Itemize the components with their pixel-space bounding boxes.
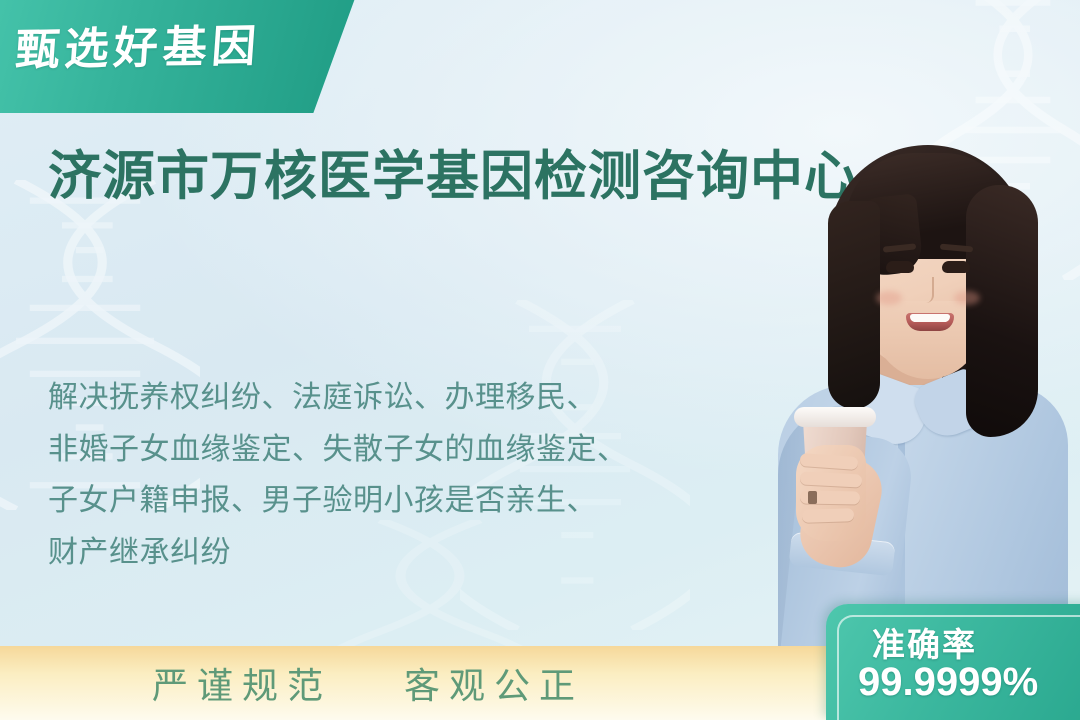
finger-ring	[808, 491, 817, 504]
banner-canvas: 甄选好基因 济源市万核医学基因检测咨询中心 解决抚养权纠纷、法庭诉讼、办理移民、…	[0, 0, 1080, 720]
hair-side-left	[828, 201, 880, 409]
service-line: 财产继承纠纷	[48, 527, 628, 579]
finger	[802, 508, 854, 523]
accuracy-label: 准确率	[872, 618, 977, 666]
hair-side-right	[966, 185, 1038, 437]
slogan-impartial: 客观公正	[404, 657, 584, 709]
service-description: 解决抚养权纠纷、法庭诉讼、办理移民、 非婚子女血缘鉴定、失散子女的血缘鉴定、 子…	[48, 372, 628, 578]
coffee-cup-lid	[794, 407, 876, 427]
service-line: 子女户籍申报、男子验明小孩是否亲生、	[48, 475, 628, 527]
service-line: 解决抚养权纠纷、法庭诉讼、办理移民、	[48, 372, 628, 424]
blush-right	[954, 291, 980, 305]
service-line: 非婚子女血缘鉴定、失散子女的血缘鉴定、	[48, 424, 628, 476]
nose	[922, 277, 934, 303]
eye-right	[942, 261, 970, 273]
accuracy-badge: 准确率 99.9999%	[826, 604, 1080, 720]
brand-ribbon: 甄选好基因	[0, 0, 358, 113]
brand-ribbon-label: 甄选好基因	[14, 10, 264, 78]
accuracy-value: 99.9999%	[858, 660, 1038, 705]
slogan-rigorous: 严谨规范	[152, 657, 332, 709]
page-title: 济源市万核医学基因检测咨询中心	[48, 148, 858, 206]
blush-left	[876, 291, 902, 305]
eye-left	[886, 261, 914, 273]
teeth	[910, 314, 950, 322]
